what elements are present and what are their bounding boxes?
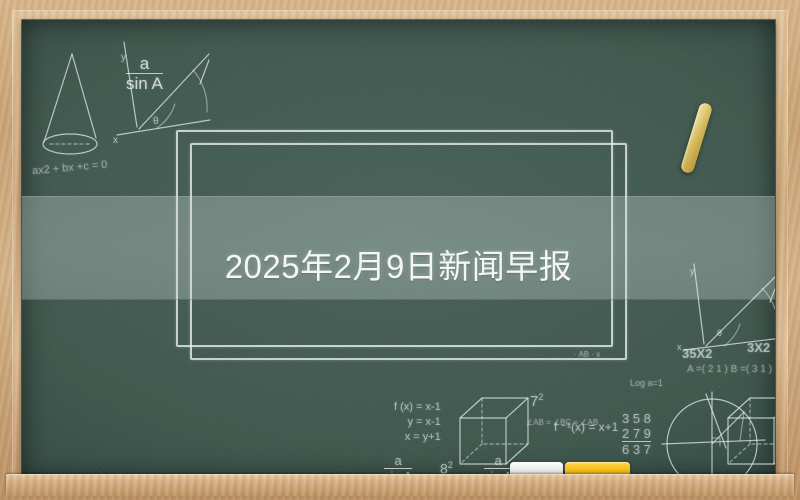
label-35x2: 35X2 bbox=[682, 346, 712, 361]
function-definition-block: f (x) = x-1 y = x-1 x = y+1 bbox=[394, 400, 441, 445]
function-line-1: f (x) = x-1 bbox=[394, 400, 441, 415]
congruence-note: ∠AB = ∠BC = ∠AB bbox=[526, 418, 598, 427]
base-seven: 7 bbox=[530, 393, 538, 410]
axis-label-x-right: x bbox=[677, 342, 682, 352]
quadratic-equation: ax2 + bx +c = 0 bbox=[32, 159, 108, 178]
blackboard: a sin A ax2 + bx +c = 0 y x θ 2025年2月9日新… bbox=[22, 20, 775, 478]
log-a-label: Log a=1 bbox=[630, 378, 663, 388]
addend-2: 2 7 9 bbox=[622, 427, 651, 442]
exponent-two-b: 2 bbox=[448, 460, 453, 470]
circle-angle-diagram bbox=[660, 388, 770, 478]
yellow-chalk-stick-top[interactable] bbox=[680, 102, 713, 175]
fraction-numerator: a bbox=[126, 55, 163, 73]
wooden-frame: a sin A ax2 + bx +c = 0 y x θ 2025年2月9日新… bbox=[0, 0, 800, 500]
decorative-rectangle-outer bbox=[176, 130, 613, 347]
axis-label-x-left: x bbox=[113, 135, 118, 146]
mid-left-note: · AB · x bbox=[574, 350, 600, 359]
angle-axis-diagram-left bbox=[97, 32, 212, 152]
sum-result: 6 3 7 bbox=[622, 441, 651, 458]
fraction-denominator: sin A bbox=[126, 73, 163, 93]
sine-rule-fraction-top-left: a sin A bbox=[126, 55, 163, 93]
addend-1: 3 5 8 bbox=[622, 412, 651, 427]
exponent-two-a: 2 bbox=[538, 392, 543, 402]
chalk-ledge bbox=[6, 474, 794, 496]
fraction-numerator-c: a bbox=[484, 454, 512, 468]
label-3x2: 3X2 bbox=[747, 340, 770, 355]
vertical-addition: 3 5 8 2 7 9 6 3 7 bbox=[622, 412, 651, 458]
function-line-3: x = y+1 bbox=[394, 430, 441, 445]
fraction-numerator-b: a bbox=[384, 454, 412, 468]
inverse-function-expression: f ⁻¹(x) = x+1 bbox=[554, 420, 618, 434]
angle-label-right: θ bbox=[717, 328, 722, 338]
seven-squared: 72 bbox=[530, 392, 543, 410]
matrix-expressions: A =( 2 1 ) B =( 3 1 ) C =( 1 2 ) bbox=[687, 364, 775, 375]
cone-drawing bbox=[34, 50, 124, 165]
angle-label-left: θ bbox=[153, 116, 159, 127]
function-line-2: y = x-1 bbox=[394, 415, 441, 430]
axis-label-y-left: y bbox=[121, 52, 126, 63]
cube-drawing-right bbox=[722, 392, 775, 476]
page-title: 2025年2月9日新闻早报 bbox=[22, 248, 775, 286]
